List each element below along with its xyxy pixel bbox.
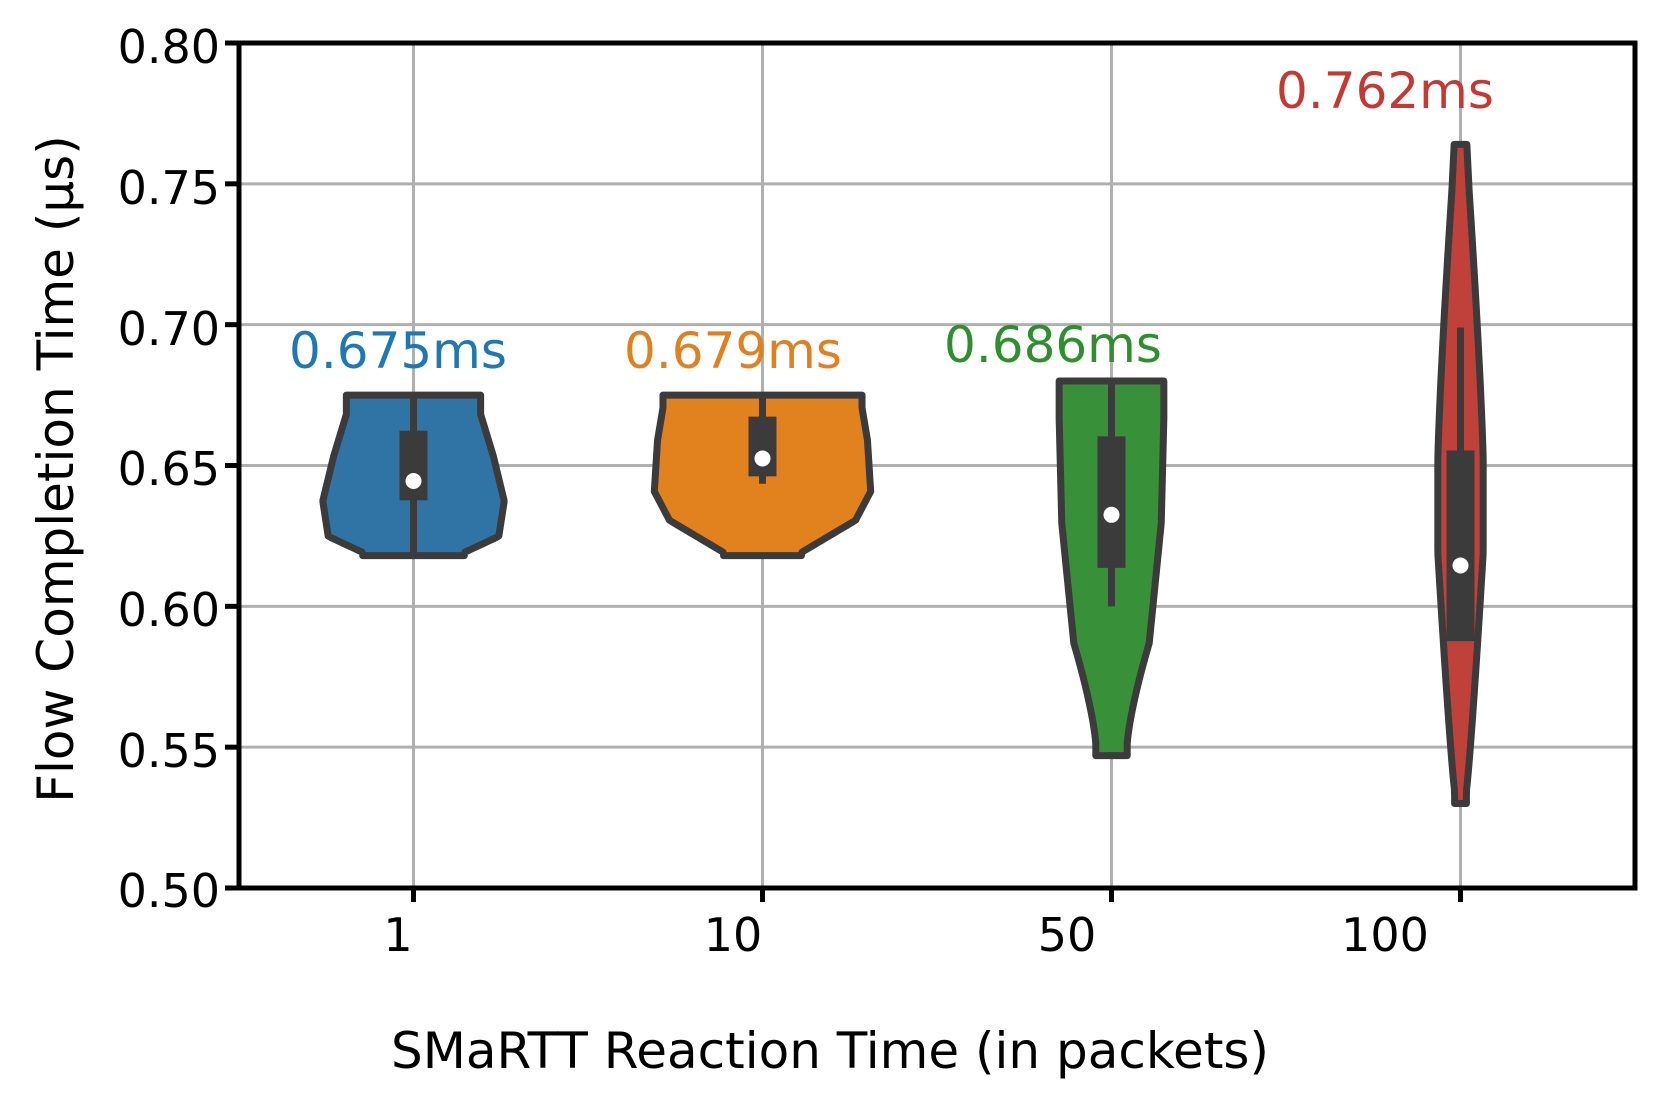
- median-marker-1: [406, 473, 421, 488]
- iqr-box-50: [1099, 437, 1125, 567]
- xtick-label-1: 1: [318, 908, 478, 962]
- annotation-value-50: 0.686ms: [863, 316, 1243, 374]
- median-marker-100: [1453, 558, 1468, 573]
- violin-group-10: [654, 392, 870, 555]
- xtick-label-100: 100: [1305, 908, 1465, 962]
- annotation-value-100: 0.762ms: [1195, 62, 1575, 120]
- annotation-value-1: 0.675ms: [208, 322, 588, 380]
- violin-chart-figure: 0.80 0.75 0.70 0.65 0.60 0.55 0.50 1 10 …: [0, 0, 1660, 1109]
- y-axis-label: Flow Completion Time (μs): [27, 19, 85, 919]
- median-marker-10: [755, 451, 770, 466]
- violin-group-1: [323, 395, 504, 556]
- iqr-box-100: [1448, 451, 1474, 640]
- xtick-label-10: 10: [653, 908, 813, 962]
- iqr-box-10: [750, 418, 776, 476]
- xtick-label-50: 50: [987, 908, 1147, 962]
- median-marker-50: [1104, 507, 1119, 522]
- x-axis-label: SMaRTT Reaction Time (in packets): [0, 1022, 1660, 1080]
- iqr-box-1: [401, 432, 427, 500]
